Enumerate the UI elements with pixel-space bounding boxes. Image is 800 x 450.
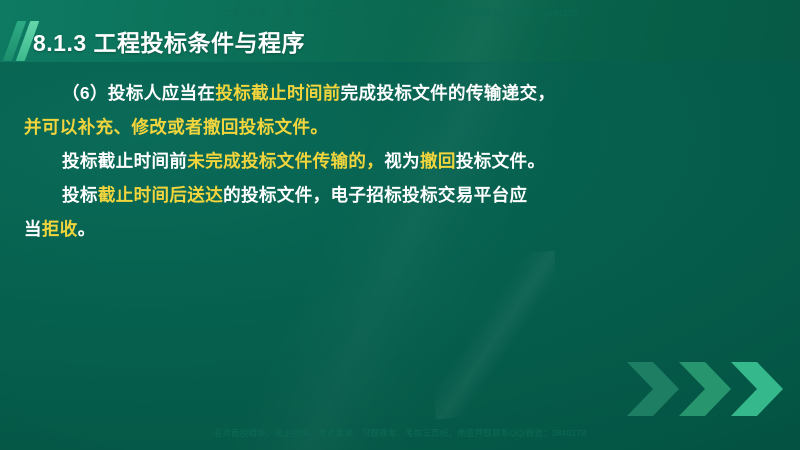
slide-body-text: （6）投标人应当在投标截止时间前完成投标文件的传输递交，并可以补充、修改或者撤回… — [24, 76, 776, 246]
body-text-segment: 投标 — [62, 185, 98, 205]
body-line: （6）投标人应当在投标截止时间前完成投标文件的传输递交， — [24, 76, 776, 110]
chevron-1 — [627, 362, 679, 416]
body-line: 投标截止时间后送达的投标文件，电子招标投标交易平台应 — [24, 178, 776, 212]
body-text-highlight: 拒收 — [42, 219, 78, 239]
chevron-3 — [731, 362, 783, 416]
body-text-segment: 完成投标文件的传输递交， — [341, 83, 556, 103]
watermark-top: 二建、监理、一建、一造、二造、安全、消防、咨询、检测课程押题联系QQ/微信：38… — [0, 8, 800, 19]
body-text-highlight: 撤回 — [420, 151, 456, 171]
body-text-segment: （6）投标人应当在 — [62, 83, 215, 103]
body-text-highlight: 并可以补充、修改或者撤回投标文件。 — [24, 117, 328, 137]
presentation-slide: 8.1.3 工程投标条件与程序 二建、监理、一建、一造、二造、安全、消防、咨询、… — [0, 0, 800, 450]
body-text-segment: 。 — [78, 219, 96, 239]
body-line: 并可以补充、修改或者撤回投标文件。 — [24, 110, 776, 144]
body-text-segment: 的投标文件，电子招标投标交易平台应 — [223, 185, 527, 205]
watermark-bottom: 名师面授精华、央企内训、考点串讲、习题模考、考前三页纸、绝密押题联系QQ/微信：… — [0, 428, 800, 439]
body-text-segment: 视为 — [384, 151, 420, 171]
body-text-highlight: 未完成投标文件传输的， — [187, 151, 384, 171]
chevron-2 — [679, 362, 731, 416]
page-title: 8.1.3 工程投标条件与程序 — [33, 24, 305, 58]
body-text-highlight: 截止时间后送达 — [98, 185, 223, 205]
triple-chevron-right-icon — [627, 360, 792, 418]
body-line: 投标截止时间前未完成投标文件传输的，视为撤回投标文件。 — [24, 144, 776, 178]
body-text-segment: 投标截止时间前 — [62, 151, 187, 171]
body-text-segment: 当 — [24, 219, 42, 239]
body-text-segment: 投标文件。 — [456, 151, 546, 171]
body-line: 当拒收。 — [24, 212, 776, 246]
body-text-highlight: 投标截止时间前 — [215, 83, 340, 103]
